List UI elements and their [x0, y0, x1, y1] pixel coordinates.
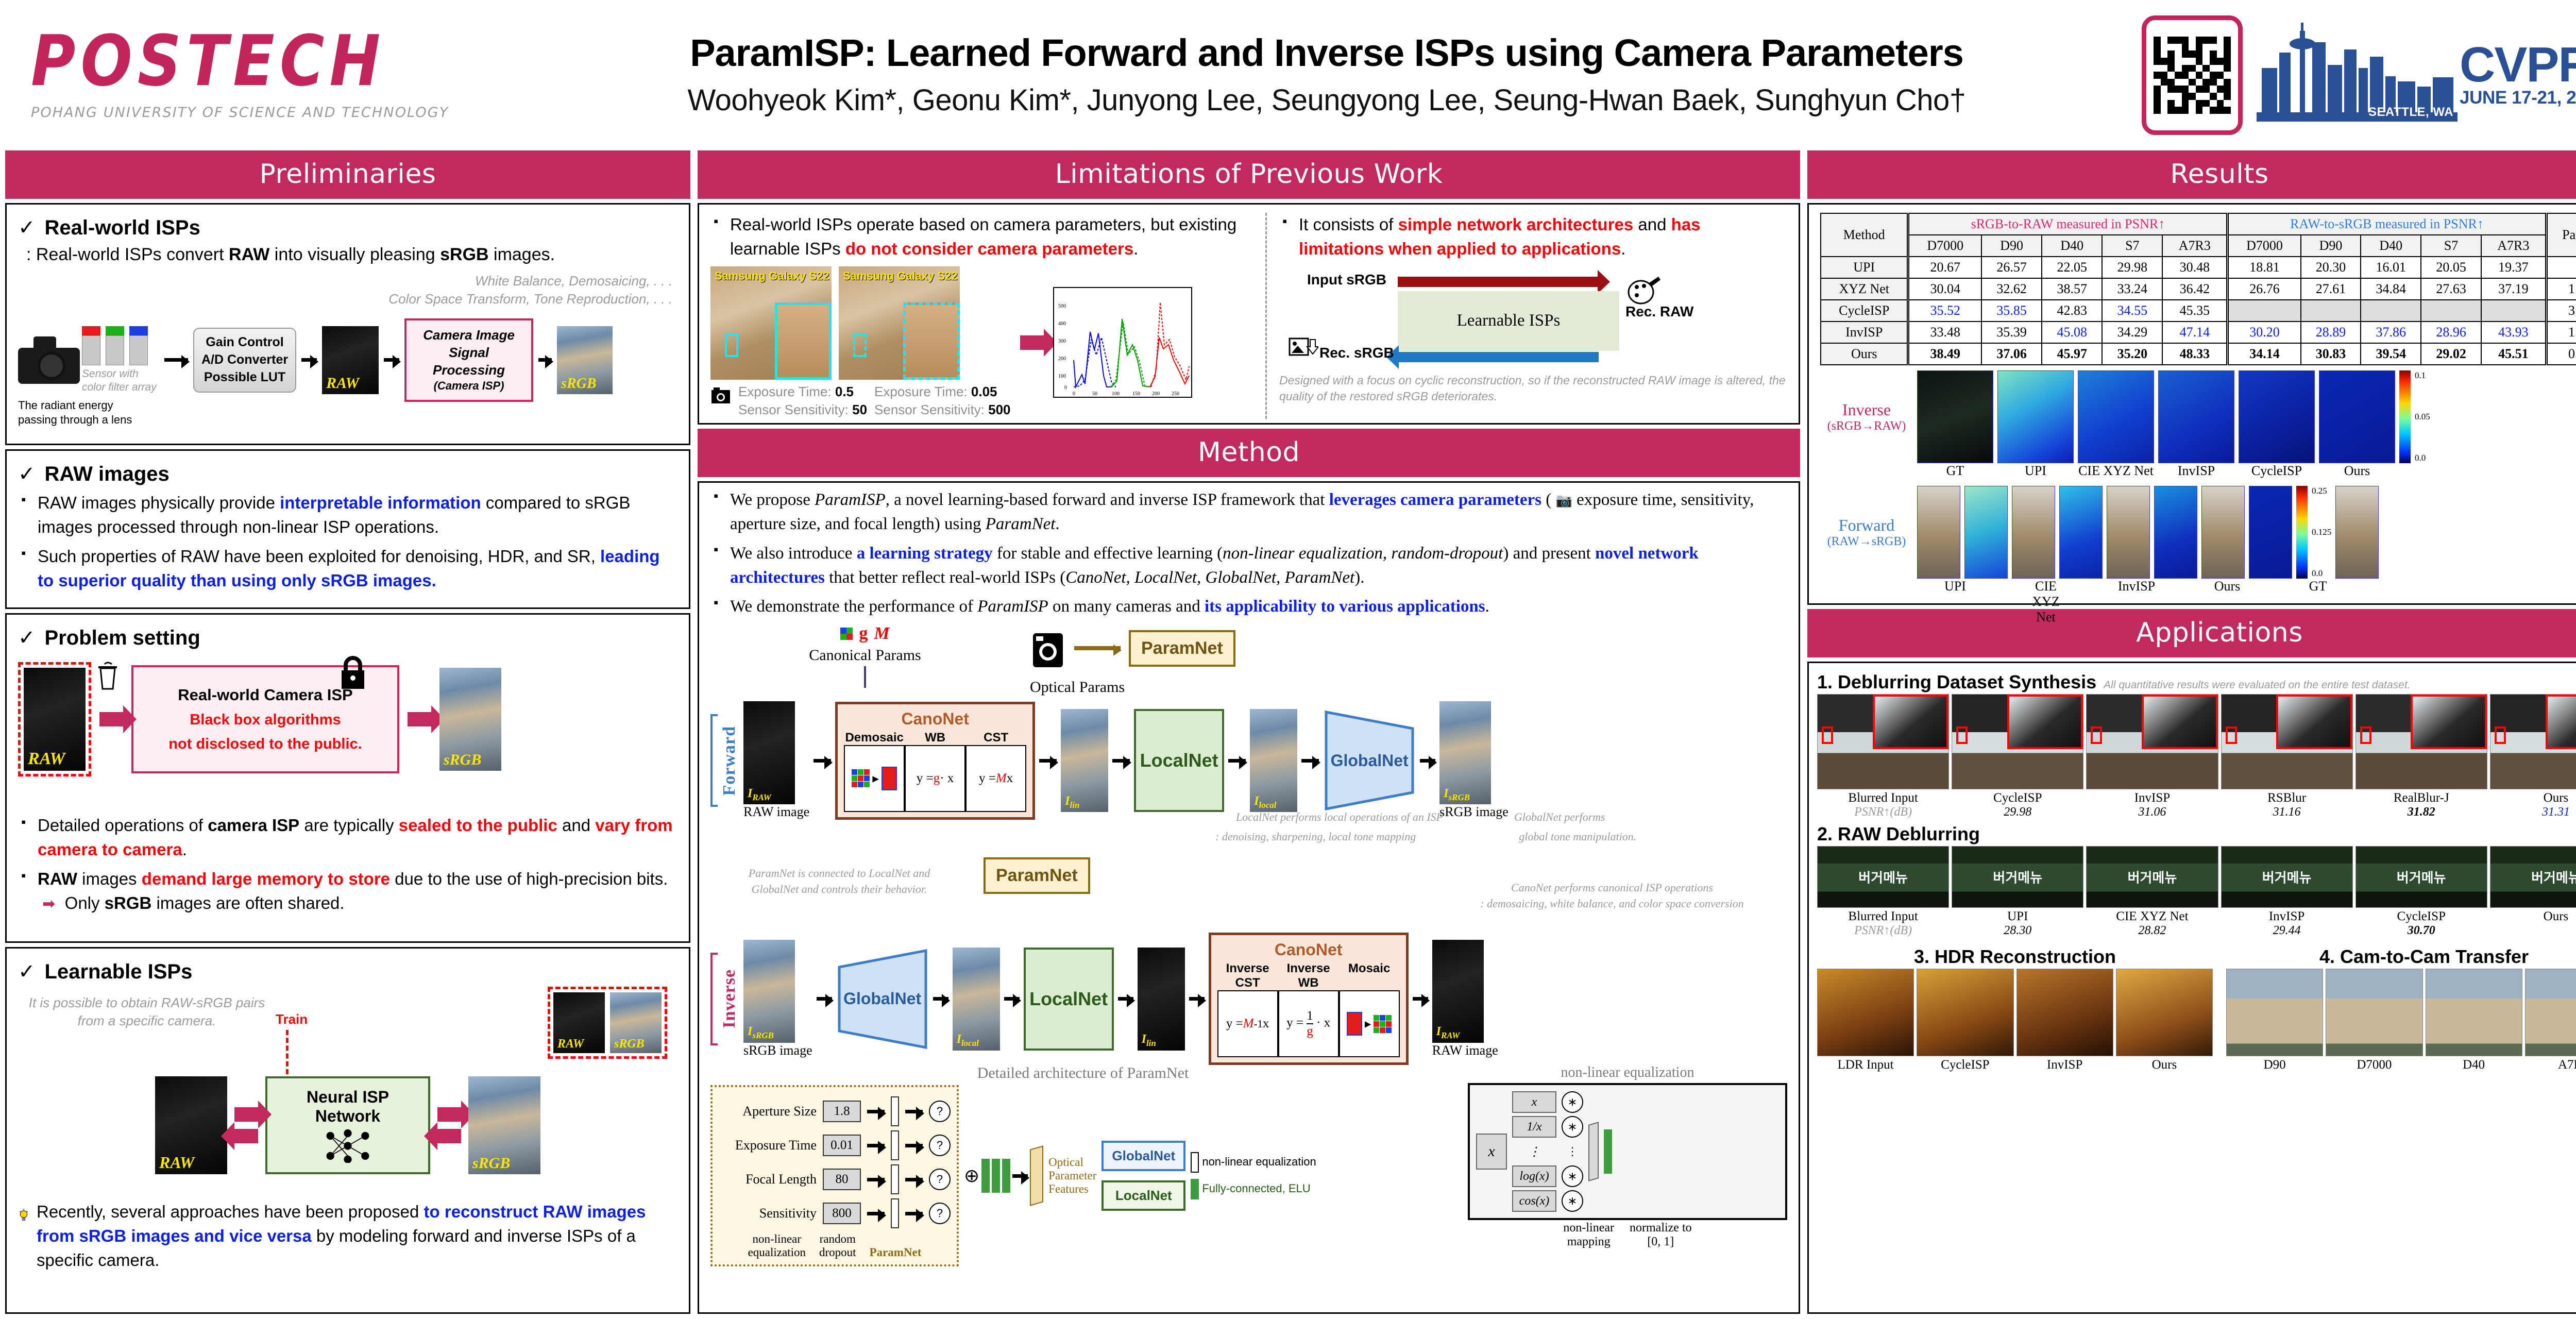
zoom-inset-box [2276, 695, 2352, 749]
arrow-forward-icon [1398, 277, 1599, 287]
inverse-cst-cell: y = M-1x [1217, 990, 1278, 1057]
arrow-icon [234, 1107, 258, 1122]
cell-method: InvISP [1821, 322, 1908, 343]
image-caption: CycleISP [1952, 791, 2083, 805]
psnr-value: 30.70 [2355, 924, 2487, 938]
sensor-filter-icon [82, 326, 159, 365]
image-caption: UPI [1952, 909, 2083, 924]
result-thumbnail [1952, 694, 2083, 789]
colorbar-forward [2296, 486, 2308, 579]
app-result-cell: CycleISP [1917, 969, 2013, 1072]
globalnet-box-forward: GlobalNet [1323, 709, 1416, 812]
column-results: Results Method sRGB-to-RAW measured in P… [1807, 150, 2576, 1314]
i-raw-thumbnail: IRAW [1432, 940, 1484, 1043]
cell-value: 27.61 [2301, 278, 2361, 300]
nle-block-icon [891, 1164, 899, 1194]
dropout-icon: ? [929, 1101, 951, 1122]
dropout-icon: ? [929, 1169, 951, 1190]
arrow-icon [1004, 997, 1020, 1001]
overlay-text: 버거메뉴 [1993, 868, 2042, 887]
cell-value: 39.54 [2361, 343, 2421, 365]
section-header-method: Method [698, 429, 1800, 477]
result-thumbnail: 버거메뉴 [2490, 846, 2576, 908]
raw-thumbnail: RAW [24, 668, 86, 771]
cell-method: XYZ Net [1821, 278, 1908, 300]
panel-raw-images: ✓ RAW images RAW images physically provi… [5, 449, 690, 609]
image-caption: Ours [2206, 579, 2249, 625]
colorbar-inverse [2399, 370, 2411, 463]
arrow-icon [234, 1129, 258, 1143]
app-result-cell: A7R3 [2525, 969, 2576, 1072]
cell-value: 45.97 [2042, 343, 2102, 365]
arrow-icon [1420, 759, 1435, 763]
image-caption: Ours [2319, 463, 2395, 479]
arrow-icon [437, 1129, 461, 1143]
zoom-inset-box [2411, 695, 2486, 749]
image-caption: InvISP [2086, 791, 2218, 805]
table-row: XYZ Net30.0432.6238.5733.2436.4226.7627.… [1821, 278, 2576, 300]
camera-small-icon [710, 385, 731, 405]
cell-param: 3.1M [2546, 300, 2576, 322]
cell-value: 35.39 [1981, 322, 2042, 343]
inverse-results-row: Inverse (sRGB→RAW) 0.1 0.05 0.0 [1820, 370, 2576, 463]
result-thumbnail [1817, 969, 1914, 1056]
nle-title: non-linear equalization [1468, 1064, 1787, 1081]
sample-photo-short-exposure: Samsung Galaxy S22 [839, 266, 960, 380]
cell-value: 33.48 [1908, 322, 1981, 343]
app-result-cell: Blurred InputPSNR↑(dB) [1817, 694, 1949, 819]
table-row: CycleISP35.5235.8542.8334.5545.353.1M [1821, 300, 2576, 322]
cell-value: 32.62 [1981, 278, 2042, 300]
lens-caption: The radiant energy passing through a len… [18, 398, 132, 427]
app3-title: 3. HDR Reconstruction [1817, 946, 2213, 968]
poster-header: POSTECH POHANG UNIVERSITY OF SCIENCE AND… [0, 0, 2576, 150]
cvpr-text: CVPR JUNE 17-21, 2024 [2460, 42, 2576, 108]
zoom-source-box [1822, 726, 1833, 744]
result-thumbnail [2490, 694, 2576, 789]
param-label: Aperture Size [719, 1104, 817, 1119]
i-lin-thumbnail: Ilin [1061, 709, 1108, 812]
zoom-source-box [1956, 726, 1968, 744]
list-item: It consists of simple network architectu… [1279, 213, 1787, 261]
cell-value: 34.55 [2102, 300, 2162, 322]
i-srgb-thumbnail: IsRGB [743, 940, 795, 1043]
qr-code-block[interactable] [2128, 15, 2257, 135]
wb-cell: y = g · x [905, 745, 965, 812]
app-result-cell: Ours31.31 [2490, 694, 2576, 819]
th-group-s2r: sRGB-to-RAW measured in PSNR↑ [1908, 213, 2228, 235]
i-local-thumbnail: Ilocal [1250, 709, 1297, 812]
postech-wordmark: POSTECH [31, 26, 526, 96]
nle-block-icon [891, 1130, 899, 1160]
cell-value: 30.83 [2301, 343, 2361, 365]
learnable-note-2: from a specific camera. [28, 1012, 265, 1030]
psnr-value: 28.30 [1952, 924, 2083, 938]
overlay-text: 버거메뉴 [2531, 868, 2576, 887]
g-symbol: g [859, 624, 868, 644]
app-result-cell: D7000 [2326, 969, 2422, 1072]
list-item: Detailed operations of camera ISP are ty… [18, 814, 677, 862]
cell-value: 28.96 [2421, 322, 2481, 343]
tile-cie [2078, 370, 2154, 463]
globalnet-box-inverse: GlobalNet [836, 948, 929, 1051]
tile-gt [1917, 370, 1993, 463]
cell-value: 30.48 [2162, 257, 2227, 278]
zoom-source-box [2495, 726, 2506, 744]
cell-param: 1.4M [2546, 322, 2576, 343]
psnr-value: 29.98 [1952, 805, 2083, 819]
cell-value: 29.02 [2421, 343, 2481, 365]
nle-op: ⋮ [1512, 1141, 1556, 1162]
app-result-cell: 버거메뉴InvISP29.44 [2221, 846, 2353, 938]
train-label: Train [276, 1011, 308, 1027]
app-result-cell: D90 [2226, 969, 2323, 1072]
canonet-box-forward: CanoNet DemosaicWBCST [835, 702, 1035, 820]
tile-photo [2012, 486, 2055, 579]
th-camera: S7 [2102, 235, 2162, 257]
results-table: Method sRGB-to-RAW measured in PSNR↑ RAW… [1820, 213, 2576, 365]
svg-text:100: 100 [1058, 374, 1066, 379]
inverse-label: Inverse [720, 969, 739, 1028]
lock-icon [337, 655, 368, 691]
srgb-thumbnail: sRGB [468, 1076, 540, 1174]
image-caption: CycleISP [2239, 463, 2315, 479]
forward-results-row: Forward (RAW→sRGB) 0.25 0.125 0 [1820, 486, 2576, 579]
raw-images-bullets: RAW images physically provide interpreta… [18, 491, 677, 593]
nle-op: log(x) [1512, 1165, 1556, 1187]
check-icon: ✓ [18, 626, 36, 650]
param-label: Focal Length [719, 1172, 817, 1187]
network-icon [317, 1129, 379, 1163]
arrow-icon [814, 759, 831, 763]
result-thumbnail: 버거메뉴 [2221, 846, 2353, 908]
image-caption: Blurred Input [1817, 909, 1949, 924]
arrow-icon [99, 712, 123, 726]
out-localnet: LocalNet [1101, 1180, 1185, 1211]
app2-title: 2. RAW Deblurring [1817, 823, 2576, 845]
trash-icon [95, 660, 120, 690]
th-camera: D7000 [1908, 235, 1981, 257]
srgb-thumbnail: sRGB [439, 668, 501, 771]
th-camera: D40 [2361, 235, 2421, 257]
check-icon: ✓ [18, 462, 36, 486]
arrow-icon [1189, 997, 1205, 1001]
section-header-results: Results [1807, 150, 2576, 199]
cell-value: 30.20 [2228, 322, 2301, 343]
srgb-image-caption: sRGB image [743, 1043, 812, 1058]
neural-isp-network-box: Neural ISP Network [265, 1076, 430, 1174]
cell-value [2301, 300, 2361, 322]
cst-cell: y = Mx [965, 745, 1026, 812]
m-symbol: M [874, 624, 889, 644]
cell-method: UPI [1821, 257, 1908, 278]
camera-icon [18, 336, 80, 384]
result-thumbnail: 버거메뉴 [1817, 846, 1949, 908]
tile-photo [2201, 486, 2245, 579]
nle-multiply-icon: ∗ [1562, 1091, 1583, 1113]
nle-block-icon [891, 1096, 899, 1126]
paramnet-detail-title: Detailed architecture of ParamNet [710, 1064, 1455, 1082]
learnable-note-1: It is possible to obtain RAW-sRGB pairs [28, 994, 265, 1012]
nle-op: cos(x) [1512, 1190, 1556, 1212]
arrow-icon [1118, 997, 1133, 1001]
paramnet-box-inverse: ParamNet [984, 857, 1090, 894]
image-caption: InvISP [2158, 463, 2234, 479]
nle-op: 1/x [1512, 1116, 1556, 1138]
zoom-source-box [2360, 726, 2371, 744]
th-camera: S7 [2421, 235, 2481, 257]
cell-value: 37.86 [2361, 322, 2421, 343]
image-caption: D90 [2226, 1058, 2323, 1072]
tile-err-ours [2249, 486, 2292, 579]
app-result-cell: CycleISP29.98 [1952, 694, 2083, 819]
panel-method: We propose ParamISP, a novel learning-ba… [698, 481, 1800, 1314]
image-caption: CIE XYZ Net [2024, 579, 2067, 625]
forward-captions: UPICIE XYZ NetInvISPOursGT [1934, 579, 2576, 625]
table-row: Ours38.4937.0645.9735.2048.3334.1430.833… [1821, 343, 2576, 365]
result-thumbnail [2426, 969, 2522, 1056]
psnr-value: 28.82 [2086, 924, 2218, 938]
arrow-icon [301, 358, 317, 362]
cell-value: 36.42 [2162, 278, 2227, 300]
real-world-isps-sub: : Real-world ISPs convert RAW into visua… [26, 245, 677, 265]
legend-fc: Fully-connected, ELU [1191, 1179, 1316, 1199]
i-srgb-thumbnail: IsRGB [1439, 701, 1491, 804]
histogram-chart: 500400300 2001000 050100 150200250 [1053, 287, 1192, 398]
result-thumbnail [2116, 969, 2213, 1056]
svg-text:50: 50 [1092, 391, 1097, 397]
cell-value: 16.01 [2361, 257, 2421, 278]
cell-value: 38.57 [2042, 278, 2102, 300]
srgb-thumbnail: sRGB [610, 992, 662, 1053]
image-caption: Ours [2490, 791, 2576, 805]
cell-param: - [2546, 257, 2576, 278]
cell-value: 35.20 [2102, 343, 2162, 365]
paramnet-detail-figure: Detailed architecture of ParamNet Apertu… [710, 1064, 1787, 1266]
cell-method: Ours [1821, 343, 1908, 365]
check-icon: ✓ [18, 216, 36, 240]
out-globalnet: GlobalNet [1101, 1141, 1185, 1171]
cvpr-logo: SEATTLE, WA CVPR JUNE 17-21, 2024 [2257, 24, 2576, 127]
param-value: 1.8 [823, 1101, 861, 1122]
cell-value: 47.14 [2162, 322, 2227, 343]
exif-block-1: Exposure Time: 0.5 Sensor Sensitivity: 5… [738, 383, 867, 419]
canonet-note: CanoNet performs canonical ISP operation… [1447, 880, 1777, 912]
svg-text:100: 100 [1112, 391, 1120, 397]
cell-value: 28.89 [2301, 322, 2361, 343]
cell-value: 33.24 [2102, 278, 2162, 300]
psnr-value: 29.44 [2221, 924, 2353, 938]
psnr-value: 31.06 [2086, 805, 2218, 819]
localnet-note-2: : denoising, sharpening, local tone mapp… [1215, 829, 1416, 845]
svg-text:250: 250 [1172, 391, 1179, 397]
arrow-icon [1039, 759, 1057, 763]
psnr-value: 31.82 [2355, 805, 2487, 819]
image-caption: CIE XYZ Net [2086, 909, 2218, 924]
i-raw-thumbnail: IRAW [743, 701, 795, 804]
arrow-icon [437, 1107, 461, 1122]
tile-cycleisp [2239, 370, 2315, 463]
sensor-caption-2: color filter array [82, 381, 159, 394]
svg-text:200: 200 [1058, 356, 1066, 362]
i-local-thumbnail: Ilocal [953, 948, 1000, 1051]
inverse-pipeline: ParamNet is connected to LocalNet and Gl… [710, 855, 1787, 1056]
cell-value: 37.06 [1981, 343, 2042, 365]
poster-root: POSTECH POHANG UNIVERSITY OF SCIENCE AND… [0, 0, 2576, 1319]
overlay-text: 버거메뉴 [2397, 868, 2446, 887]
cell-value: 48.33 [2162, 343, 2227, 365]
psnr-value: PSNR↑(dB) [1817, 924, 1949, 938]
localnet-box-inverse: LocalNet [1024, 948, 1114, 1051]
paramnet-input-row: Exposure Time0.01? [719, 1130, 951, 1160]
title-block: ParamISP: Learned Forward and Inverse IS… [526, 33, 2128, 118]
image-caption: LDR Input [1817, 1058, 1914, 1072]
legend-nle: non-linear equalization [1191, 1152, 1316, 1173]
tile-photo [2107, 486, 2150, 579]
param-value: 80 [823, 1169, 861, 1190]
cell-value: 20.30 [2301, 257, 2361, 278]
nle-multiply-icon: ∗ [1562, 1116, 1583, 1138]
optical-params-label: Optical Params [1030, 679, 1125, 696]
zoom-inset-box [2546, 695, 2576, 749]
th-method: Method [1821, 213, 1908, 257]
raw-image-caption: RAW image [743, 804, 809, 820]
image-caption: GT [2296, 579, 2340, 625]
zoom-inset-box [1873, 695, 1948, 749]
demosaic-cell: ▸ [844, 745, 905, 812]
cell-value: 18.81 [2228, 257, 2301, 278]
raw-dashed-frame: RAW [18, 662, 91, 776]
lightbulb-icon [18, 1200, 29, 1230]
dropout-icon: ? [929, 1135, 951, 1156]
problem-setting-bullets: Detailed operations of camera ISP are ty… [18, 814, 677, 915]
image-caption: UPI [1997, 463, 2074, 479]
postech-subtitle: POHANG UNIVERSITY OF SCIENCE AND TECHNOL… [31, 105, 526, 121]
cell-value: 30.04 [1908, 278, 1981, 300]
svg-text:400: 400 [1058, 321, 1066, 327]
tile-upi [1997, 370, 2074, 463]
th-camera: D40 [2042, 235, 2102, 257]
panel-applications: 1. Deblurring Dataset Synthesis All quan… [1807, 662, 2576, 1314]
app-result-cell: 버거메뉴Ours [2490, 846, 2576, 938]
cvpr-date: JUNE 17-21, 2024 [2460, 88, 2576, 108]
arrow-icon [384, 358, 399, 362]
nle-multiply-icon: ∗ [1562, 1190, 1583, 1212]
app-result-cell: 버거메뉴Blurred InputPSNR↑(dB) [1817, 846, 1949, 938]
list-item: Such properties of RAW have been exploit… [18, 545, 677, 593]
app-result-cell: InvISP31.06 [2086, 694, 2218, 819]
inverse-row-label: Inverse (sRGB→RAW) [1820, 400, 1913, 433]
canonical-params-label: Canonical Params [788, 647, 942, 664]
app1-strip: Blurred InputPSNR↑(dB)CycleISP29.98InvIS… [1817, 694, 2576, 819]
panel-problem-setting: ✓ Problem setting RAW Real-world Camera … [5, 613, 690, 943]
cell-value: 35.85 [1981, 300, 2042, 322]
cvpr-name: CVPR [2460, 42, 2576, 88]
cell-value [2228, 300, 2301, 322]
cell-value: 20.05 [2421, 257, 2481, 278]
image-caption: UPI [1934, 579, 1977, 625]
table-row: InvISP33.4835.3945.0834.2947.1430.2028.8… [1821, 322, 2576, 343]
limitations-note: Designed with a focus on cyclic reconstr… [1279, 373, 1787, 404]
isp-ops-note: White Balance, Demosaicing, . . . Color … [388, 272, 672, 308]
svg-text:150: 150 [1132, 391, 1140, 397]
camera-isp-box: Camera Image Signal Processing (Camera I… [404, 318, 533, 402]
nle-figure: x x1/x⋮log(x)cos(x) ∗∗⋮∗∗ [1468, 1083, 1787, 1220]
th-camera: A7R3 [2481, 235, 2546, 257]
localnet-note: LocalNet performs local operations of an… [1236, 809, 1443, 825]
cell-value: 26.76 [2228, 278, 2301, 300]
image-caption: CycleISP [1917, 1058, 2013, 1072]
raw-thumbnail: RAW [553, 992, 605, 1053]
paramnet-box-forward: ParamNet [1129, 630, 1235, 667]
srgb-image-caption: sRGB image [1439, 804, 1509, 820]
train-arrow [286, 1030, 289, 1074]
cell-value: 20.67 [1908, 257, 1981, 278]
cell-value: 42.83 [2042, 300, 2102, 322]
arrow-icon [1020, 335, 1044, 350]
palette-icon [1625, 276, 1662, 307]
result-thumbnail [2525, 969, 2576, 1056]
image-caption: A7R3 [2525, 1058, 2576, 1072]
cell-value: 29.98 [2102, 257, 2162, 278]
result-thumbnail [2016, 969, 2113, 1056]
rec-srgb-label: Rec. sRGB [1319, 345, 1394, 361]
th-group-r2s: RAW-to-sRGB measured in PSNR↑ [2228, 213, 2546, 235]
result-thumbnail: 버거메뉴 [2086, 846, 2218, 908]
sensor-caption-1: Sensor with [82, 367, 159, 381]
panel-learnable-isps: ✓ Learnable ISPs It is possible to obtai… [5, 947, 690, 1314]
paramnet-input-row: Aperture Size1.8? [719, 1096, 951, 1126]
app3-strip: LDR InputCycleISPInvISPOurs [1817, 969, 2213, 1072]
panel-real-world-isps: ✓ Real-world ISPs : Real-world ISPs conv… [5, 203, 690, 445]
raw-thumbnail: RAW [155, 1076, 227, 1174]
result-thumbnail [2086, 694, 2218, 789]
arrow-icon [1112, 759, 1130, 763]
th-camera: D90 [2301, 235, 2361, 257]
cell-value: 45.35 [2162, 300, 2227, 322]
cell-value: 38.49 [1908, 343, 1981, 365]
tile-err-invisp [2154, 486, 2197, 579]
train-pair-frame: RAW sRGB [548, 987, 667, 1059]
author-list: Woohyeok Kim*, Geonu Kim*, Junyong Lee, … [536, 83, 2117, 117]
image-caption: CIE XYZ Net [2078, 463, 2154, 479]
image-caption: RealBlur-J [2355, 791, 2487, 805]
app-result-cell: 버거메뉴CycleISP30.70 [2355, 846, 2487, 938]
cell-value: 37.19 [2481, 278, 2546, 300]
learnable-isps-box: Learnable ISPs [1398, 291, 1619, 351]
th-camera: A7R3 [2162, 235, 2227, 257]
app-result-cell: RSBlur31.16 [2221, 694, 2353, 819]
paramnet-input-row: Focal Length80? [719, 1164, 951, 1194]
i-lin-thumbnail: Ilin [1138, 948, 1185, 1051]
result-thumbnail [2226, 969, 2323, 1056]
cell-value: 26.57 [1981, 257, 2042, 278]
postech-logo: POSTECH POHANG UNIVERSITY OF SCIENCE AND… [0, 30, 526, 121]
gain-control-box: Gain Control A/D Converter Possible LUT [193, 328, 296, 392]
result-thumbnail: 버거메뉴 [1952, 846, 2083, 908]
forward-pipeline: g M Canonical Params [710, 624, 1787, 830]
list-item: RAW images physically provide interpreta… [18, 491, 677, 539]
param-value: 800 [823, 1203, 861, 1224]
psnr-value: 31.16 [2221, 805, 2353, 819]
raw-image-caption: RAW image [1432, 1043, 1498, 1058]
nle-multiply-icon: ⋮ [1562, 1141, 1583, 1162]
cell-value: 22.05 [2042, 257, 2102, 278]
result-thumbnail [2355, 694, 2487, 789]
svg-text:300: 300 [1058, 339, 1066, 344]
paramnet-input-rows: Aperture Size1.8?Exposure Time0.01?Focal… [719, 1096, 951, 1228]
svg-text:500: 500 [1058, 303, 1066, 309]
